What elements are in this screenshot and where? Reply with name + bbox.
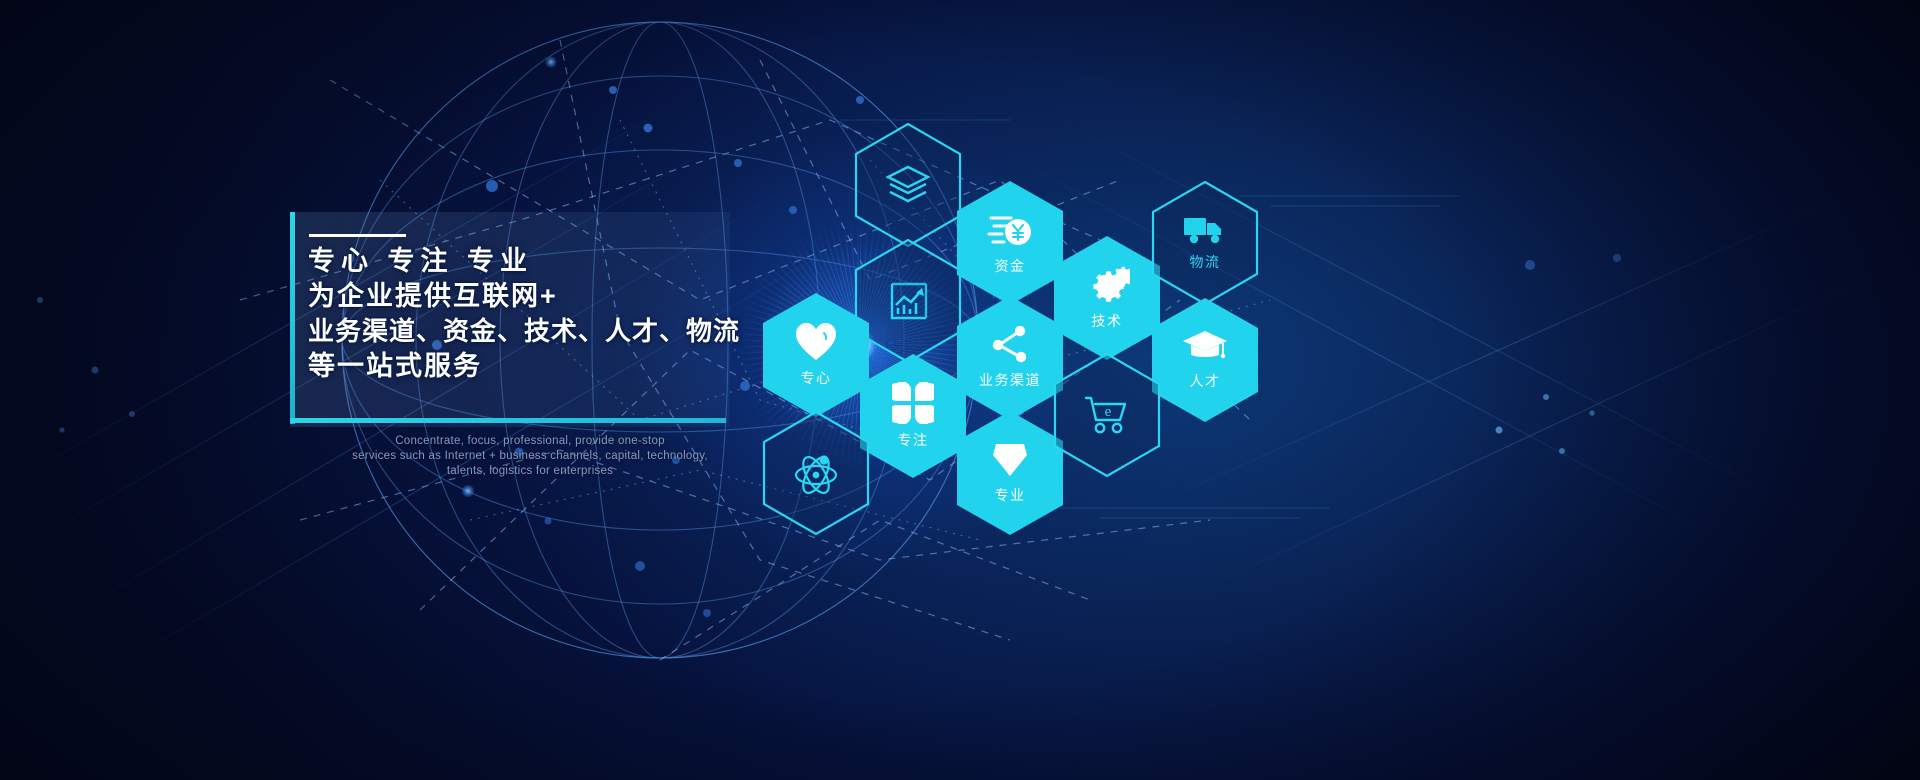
hex-label: 物流 xyxy=(1190,252,1221,272)
hex-zhuanye[interactable]: 专业 xyxy=(955,410,1065,536)
hex-yewu[interactable]: 业务渠道 xyxy=(955,295,1065,421)
hexagon-cluster: 资金 技术 xyxy=(0,0,1920,780)
hex-rencai[interactable]: 人才 xyxy=(1150,297,1260,423)
hex-zhuanzhu[interactable]: 专注 xyxy=(858,353,968,479)
atom-icon xyxy=(792,451,840,495)
hex-label: 专业 xyxy=(995,485,1026,505)
hex-label: 技术 xyxy=(1092,311,1123,331)
svg-text:e: e xyxy=(1105,404,1112,420)
hex-atom[interactable] xyxy=(761,410,871,536)
banner-hero: 专心 专注 专业 为企业提供互联网+ 业务渠道、资金、技术、人才、物流 等一站式… xyxy=(0,0,1920,780)
diamond-icon xyxy=(990,441,1030,479)
hex-label: 专注 xyxy=(898,430,929,450)
hex-layers[interactable] xyxy=(853,122,963,248)
hex-label: 专心 xyxy=(801,368,832,388)
truck-icon xyxy=(1182,214,1228,246)
hex-label: 业务渠道 xyxy=(979,370,1041,390)
share-network-icon xyxy=(989,326,1031,364)
layers-icon xyxy=(885,164,931,206)
hex-label: 资金 xyxy=(995,256,1026,276)
hex-zhuanxin[interactable]: 专心 xyxy=(761,292,871,418)
e-cart-icon: e xyxy=(1082,393,1132,437)
hex-label: 人才 xyxy=(1190,371,1221,391)
hex-wuliu[interactable]: 物流 xyxy=(1150,180,1260,306)
bar-chart-up-icon xyxy=(885,278,931,324)
heart-icon xyxy=(794,322,838,362)
hex-zijin[interactable]: 资金 xyxy=(955,180,1065,306)
yen-coin-icon xyxy=(987,210,1033,250)
gears-icon xyxy=(1084,265,1130,305)
hex-jishu[interactable]: 技术 xyxy=(1052,235,1162,361)
clover-icon xyxy=(892,382,934,424)
graduation-cap-icon xyxy=(1182,329,1228,365)
hex-ecommerce[interactable]: e xyxy=(1052,352,1162,478)
